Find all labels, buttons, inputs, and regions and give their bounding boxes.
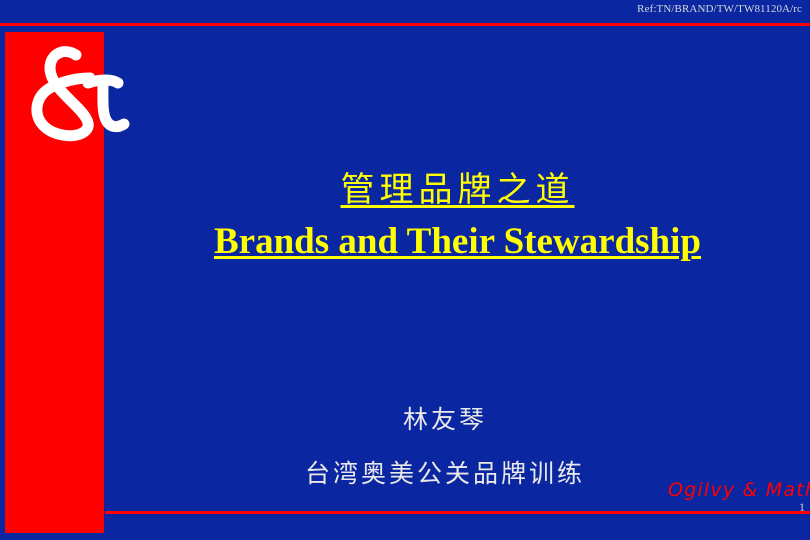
bottom-divider-rule [105,511,810,514]
reference-code-text: Ref:TN/BRAND/TW/TW81120A/rc [637,3,802,15]
top-divider-rule [0,23,810,26]
presenter-name: 林友琴 [105,403,785,437]
title-english: Brands and Their Stewardship [105,220,810,264]
presentation-slide: Ref:TN/BRAND/TW/TW81120A/rc 管理品牌之道 Brand… [0,0,810,540]
slide-title-block: 管理品牌之道 Brands and Their Stewardship [105,168,810,264]
ampersand-logo-icon [14,38,134,148]
brand-signature-text: Ogilvy & Mather [668,479,810,501]
title-chinese: 管理品牌之道 [105,168,810,212]
presenter-block: 林友琴 台湾奥美公关品牌训练 [105,403,785,491]
